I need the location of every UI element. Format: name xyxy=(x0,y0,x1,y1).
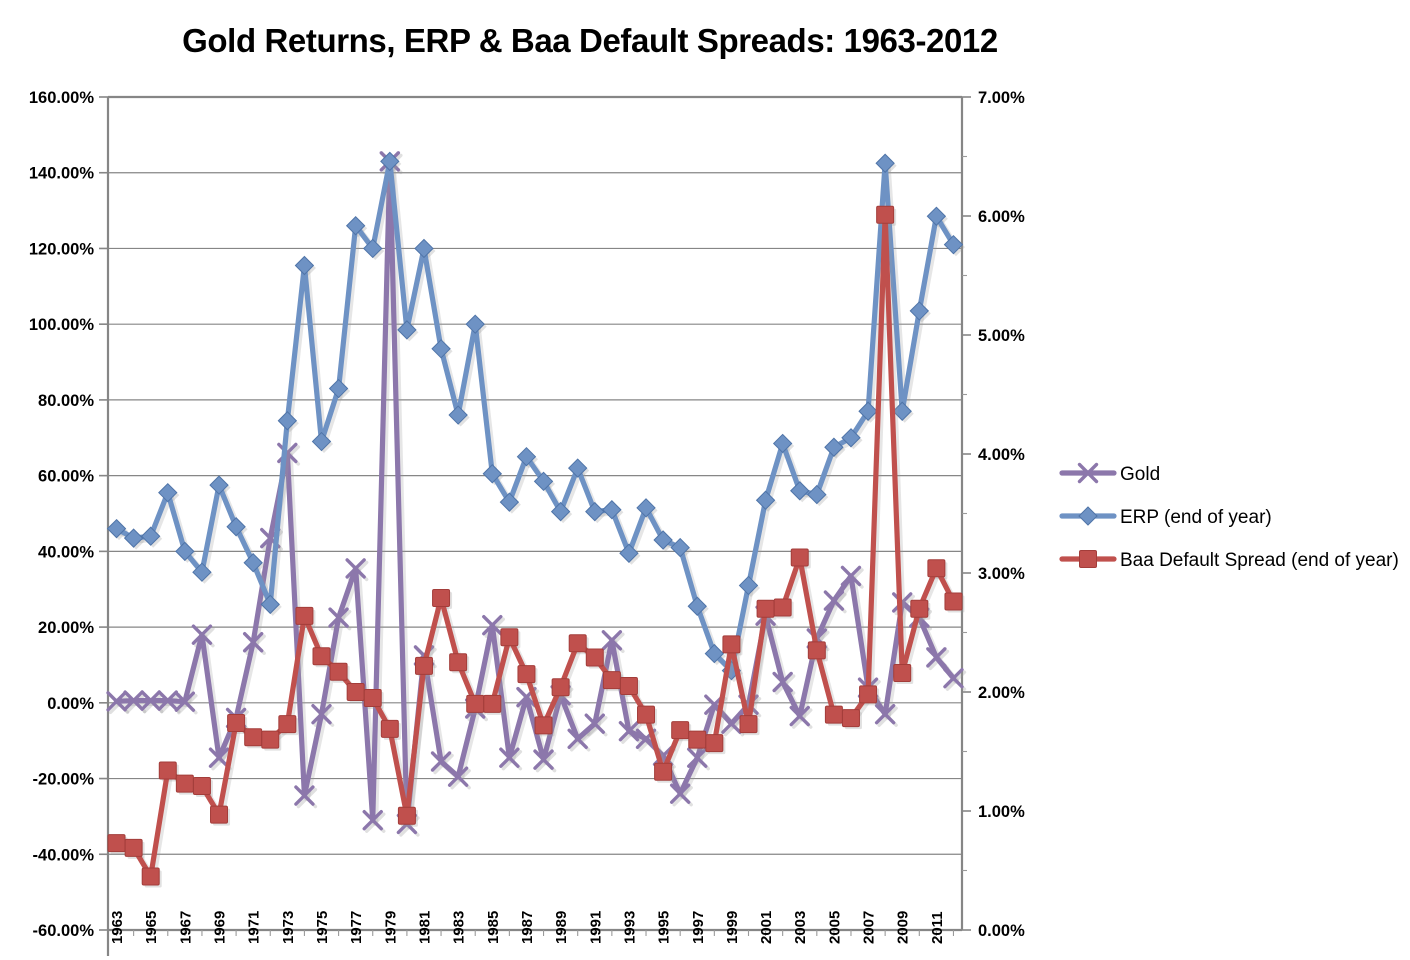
x-axis-tick-label: 1981 xyxy=(416,911,433,944)
data-point-marker-square xyxy=(706,735,723,752)
left-axis-tick-label: -20.00% xyxy=(33,771,95,789)
left-axis-tick-label: 100.00% xyxy=(29,316,94,334)
data-point-marker-square xyxy=(552,679,569,696)
data-point-marker-square xyxy=(211,806,228,823)
x-axis-tick-label: 2007 xyxy=(861,911,878,944)
data-point-marker-square xyxy=(330,663,347,680)
data-point-marker-square xyxy=(808,642,825,659)
data-point-marker-square xyxy=(569,635,586,652)
data-point-marker-square xyxy=(518,666,535,683)
x-axis-tick-label: 1967 xyxy=(177,911,194,944)
data-point-marker-square xyxy=(842,710,859,727)
data-point-marker-square xyxy=(894,664,911,681)
data-point-marker-square xyxy=(757,600,774,617)
x-axis-tick-label: 1969 xyxy=(212,911,229,944)
x-axis-group: 1963196519671969197119731975197719791981… xyxy=(109,911,953,944)
left-axis-tick-label: 120.00% xyxy=(29,240,94,258)
legend-item-baa-default-spread-end-of-year[interactable]: Baa Default Spread (end of year) xyxy=(1062,550,1399,571)
data-point-marker-square xyxy=(279,716,296,733)
legend-group[interactable]: GoldERP (end of year)Baa Default Spread … xyxy=(1062,464,1399,571)
data-point-marker-square xyxy=(364,689,381,706)
x-axis-tick-label: 1965 xyxy=(143,911,160,944)
series-markers-shadow xyxy=(111,209,965,888)
x-axis-tick-label: 1987 xyxy=(519,911,536,944)
x-axis-tick-label: 1979 xyxy=(382,911,399,944)
series-markers xyxy=(108,206,962,885)
data-point-marker-square xyxy=(620,678,637,695)
series-baa-default-spread-end-of-year xyxy=(108,206,964,887)
data-point-marker-square xyxy=(723,636,740,653)
left-axis-group: -60.00%-40.00%-20.00%0.00%20.00%40.00%60… xyxy=(29,89,108,940)
data-point-marker-square xyxy=(638,706,655,723)
right-axis-tick-label: 4.00% xyxy=(978,446,1025,464)
data-point-marker-square xyxy=(774,599,791,616)
right-axis-tick-label: 2.00% xyxy=(978,684,1025,702)
data-point-marker-square xyxy=(228,714,245,731)
x-axis-tick-label: 1989 xyxy=(553,911,570,944)
chart-plot-area: -60.00%-40.00%-20.00%0.00%20.00%40.00%60… xyxy=(0,0,1410,960)
left-axis-tick-label: -60.00% xyxy=(33,922,95,940)
data-point-marker-square xyxy=(347,684,364,701)
right-axis-group: 0.00%1.00%2.00%3.00%4.00%5.00%6.00%7.00% xyxy=(962,89,1025,940)
x-axis-tick-label: 1971 xyxy=(246,911,263,944)
x-axis-tick-label: 2003 xyxy=(792,911,809,944)
data-point-marker-square xyxy=(245,729,262,746)
data-point-marker-square xyxy=(911,600,928,617)
x-axis-tick-label: 1985 xyxy=(485,911,502,944)
chart-page: Gold Returns, ERP & Baa Default Spreads:… xyxy=(0,0,1410,960)
x-axis-tick-label: 1975 xyxy=(314,911,331,944)
data-point-marker-square xyxy=(313,648,330,665)
x-axis-tick-label: 1963 xyxy=(109,911,126,944)
chart-svg: -60.00%-40.00%-20.00%0.00%20.00%40.00%60… xyxy=(0,0,1410,960)
data-point-marker-square xyxy=(860,686,877,703)
x-axis-tick-label: 1995 xyxy=(656,911,673,944)
data-point-marker-square xyxy=(433,589,450,606)
legend-label: Baa Default Spread (end of year) xyxy=(1120,550,1399,571)
data-point-marker-square xyxy=(381,720,398,737)
right-axis-tick-label: 1.00% xyxy=(978,803,1025,821)
x-axis-tick-label: 2011 xyxy=(929,911,946,944)
data-point-marker-square xyxy=(108,835,125,852)
x-axis-tick-label: 2009 xyxy=(895,911,912,944)
left-axis-tick-label: -40.00% xyxy=(33,846,95,864)
left-axis-tick-label: 20.00% xyxy=(38,619,94,637)
data-point-marker-square xyxy=(262,731,279,748)
series-group xyxy=(108,152,965,887)
data-point-marker-square xyxy=(655,763,672,780)
right-axis-tick-label: 3.00% xyxy=(978,565,1025,583)
data-point-marker-square xyxy=(689,731,706,748)
x-axis-tick-label: 1999 xyxy=(724,911,741,944)
left-axis-tick-label: 80.00% xyxy=(38,392,94,410)
left-axis-tick-label: 160.00% xyxy=(29,89,94,107)
series-line xyxy=(117,215,954,877)
data-point-marker-square xyxy=(740,716,757,733)
data-point-marker-square xyxy=(535,717,552,734)
data-point-marker-square xyxy=(877,206,894,223)
data-point-marker-square xyxy=(672,722,689,739)
data-point-marker-square xyxy=(176,775,193,792)
data-point-marker-square xyxy=(825,706,842,723)
legend-item-erp-end-of-year[interactable]: ERP (end of year) xyxy=(1062,507,1272,528)
x-axis-tick-label: 1997 xyxy=(690,911,707,944)
left-axis-tick-label: 40.00% xyxy=(38,543,94,561)
data-point-marker-square xyxy=(484,695,501,712)
x-axis-tick-label: 1977 xyxy=(348,911,365,944)
right-axis-tick-label: 6.00% xyxy=(978,208,1025,226)
x-axis-tick-label: 1993 xyxy=(621,911,638,944)
data-point-marker-square xyxy=(501,629,518,646)
x-axis-tick-label: 1983 xyxy=(451,911,468,944)
data-point-marker-square xyxy=(945,593,962,610)
data-point-marker-square xyxy=(125,839,142,856)
data-point-marker-square xyxy=(928,560,945,577)
data-point-marker-square xyxy=(142,868,159,885)
legend-label: Gold xyxy=(1120,464,1160,485)
right-axis-tick-label: 0.00% xyxy=(978,922,1025,940)
right-axis-tick-label: 5.00% xyxy=(978,327,1025,345)
left-axis-tick-label: 60.00% xyxy=(38,468,94,486)
data-point-marker-square xyxy=(1080,551,1097,568)
x-axis-tick-label: 1973 xyxy=(280,911,297,944)
data-point-marker-square xyxy=(450,654,467,671)
left-axis-tick-label: 140.00% xyxy=(29,165,94,183)
data-point-marker-square xyxy=(296,607,313,624)
left-axis-tick-label: 0.00% xyxy=(47,695,94,713)
x-axis-tick-label: 2001 xyxy=(758,911,775,944)
data-point-marker-square xyxy=(586,649,603,666)
x-axis-tick-label: 1991 xyxy=(587,911,604,944)
data-point-marker-square xyxy=(415,657,432,674)
legend-label: ERP (end of year) xyxy=(1120,507,1272,528)
data-point-marker-square xyxy=(603,672,620,689)
data-point-marker-square xyxy=(398,807,415,824)
data-point-marker-diamond xyxy=(1079,507,1097,525)
data-point-marker-square xyxy=(193,778,210,795)
x-axis-tick-label: 2005 xyxy=(826,911,843,944)
data-point-marker-square xyxy=(467,695,484,712)
legend-item-gold[interactable]: Gold xyxy=(1062,464,1160,485)
right-axis-tick-label: 7.00% xyxy=(978,89,1025,107)
data-point-marker-square xyxy=(791,549,808,566)
data-point-marker-square xyxy=(159,762,176,779)
